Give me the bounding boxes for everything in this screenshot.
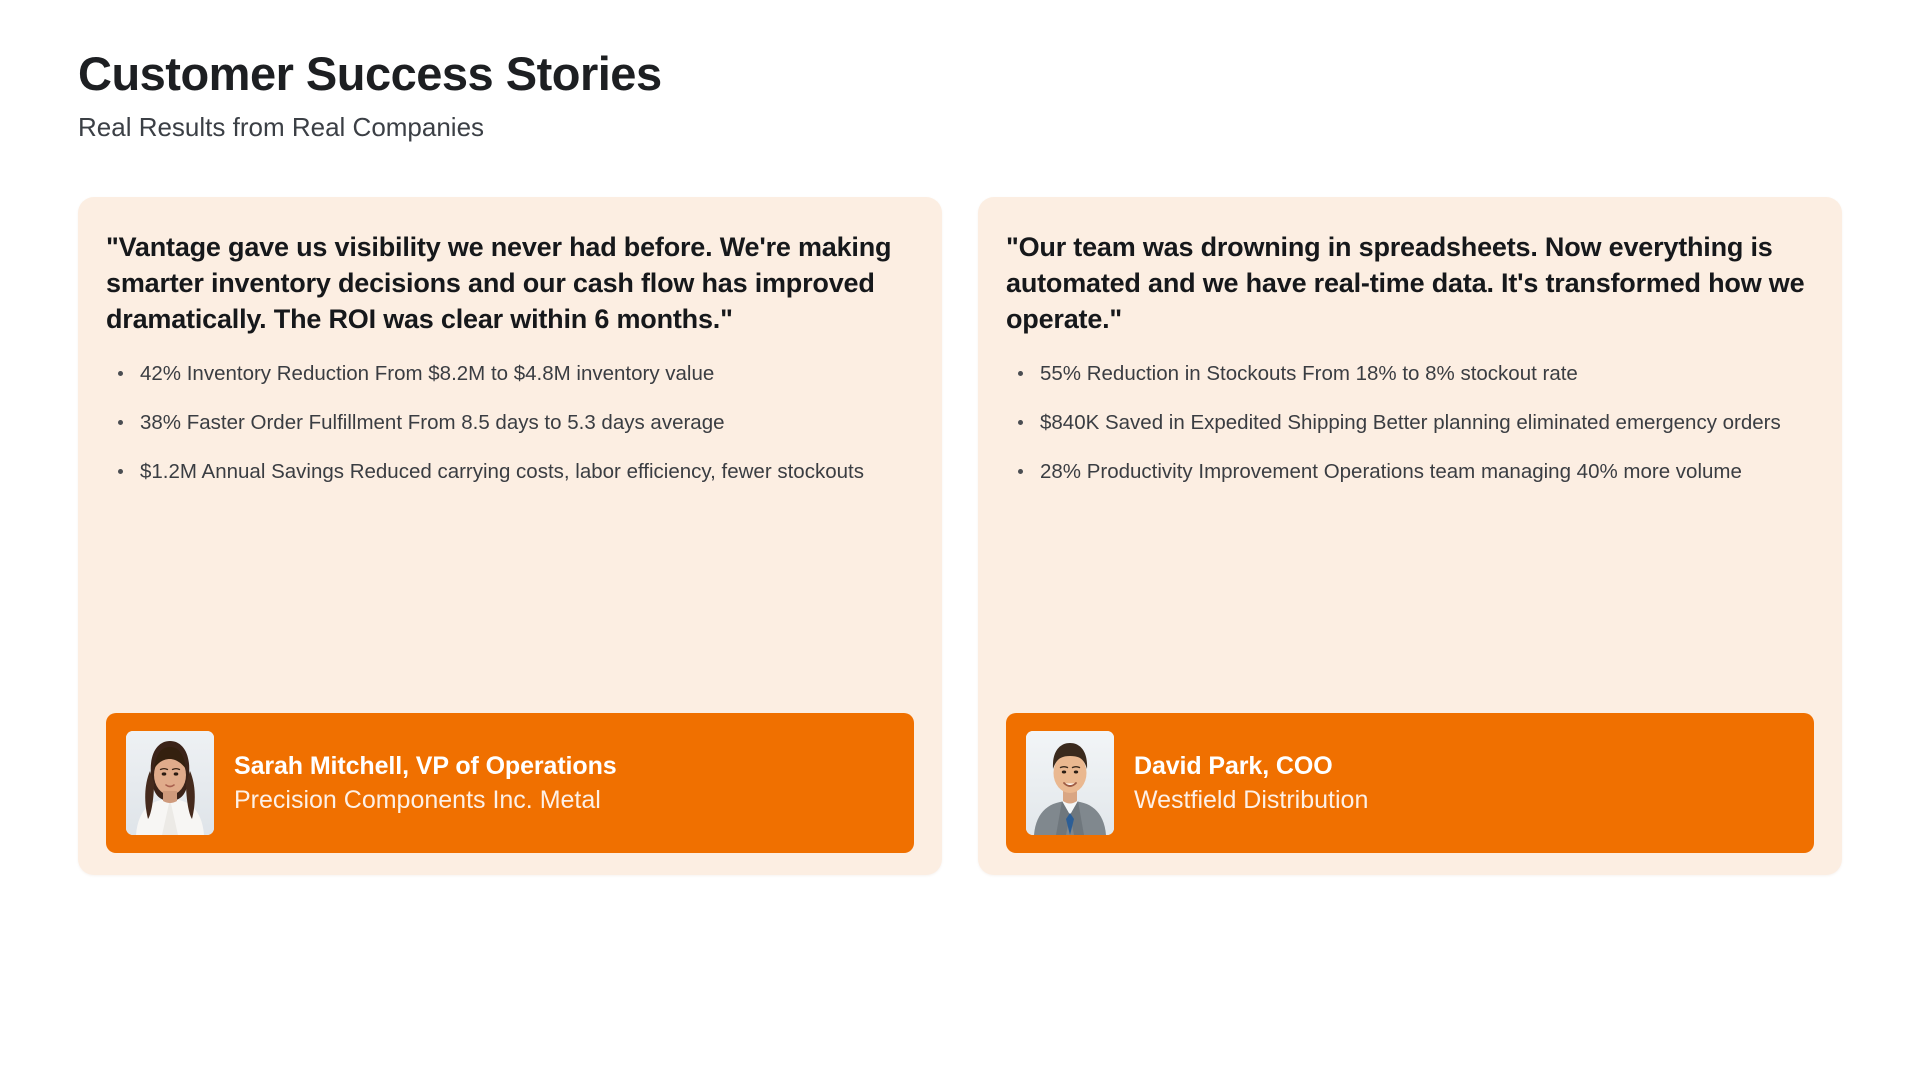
list-item: 38% Faster Order Fulfillment From 8.5 da… [112,409,914,436]
author-name: Sarah Mitchell, VP of Operations [234,751,617,782]
testimonial-author-bar: David Park, COO Westfield Distribution [1006,713,1814,853]
list-item: 28% Productivity Improvement Operations … [1012,458,1814,485]
avatar [1026,731,1114,835]
author-company: Precision Components Inc. Metal [234,785,617,816]
page-title: Customer Success Stories [78,48,1842,101]
card-spacer [106,507,914,713]
testimonial-results-list: 42% Inventory Reduction From $8.2M to $4… [112,360,914,508]
testimonial-card[interactable]: "Our team was drowning in spreadsheets. … [978,197,1842,875]
card-spacer [1006,507,1814,713]
testimonial-card-list: "Vantage gave us visibility we never had… [78,197,1842,875]
testimonial-results-list: 55% Reduction in Stockouts From 18% to 8… [1012,360,1814,508]
testimonial-card[interactable]: "Vantage gave us visibility we never had… [78,197,942,875]
avatar [126,731,214,835]
list-item: 55% Reduction in Stockouts From 18% to 8… [1012,360,1814,387]
author-info: David Park, COO Westfield Distribution [1134,751,1368,815]
page-subtitle: Real Results from Real Companies [78,111,1842,144]
testimonial-author-bar: Sarah Mitchell, VP of Operations Precisi… [106,713,914,853]
list-item: $840K Saved in Expedited Shipping Better… [1012,409,1814,436]
testimonial-quote: "Vantage gave us visibility we never had… [106,229,914,338]
testimonial-quote: "Our team was drowning in spreadsheets. … [1006,229,1814,338]
author-name: David Park, COO [1134,751,1368,782]
success-stories-page: Customer Success Stories Real Results fr… [0,0,1920,1080]
list-item: $1.2M Annual Savings Reduced carrying co… [112,458,914,485]
author-company: Westfield Distribution [1134,785,1368,816]
list-item: 42% Inventory Reduction From $8.2M to $4… [112,360,914,387]
author-info: Sarah Mitchell, VP of Operations Precisi… [234,751,617,815]
